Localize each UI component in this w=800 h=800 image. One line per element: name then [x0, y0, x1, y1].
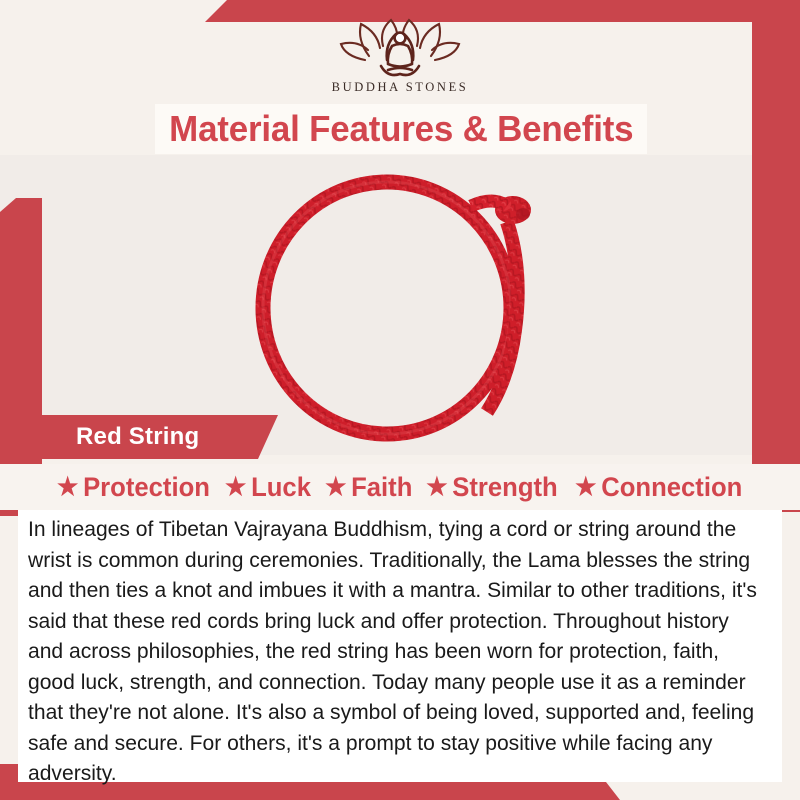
- red-string-ribbon: Red String: [28, 415, 278, 459]
- product-photo: [0, 155, 800, 455]
- benefit-label: Faith: [351, 472, 412, 503]
- product-feature-poster: BUDDHA STONES Material Features & Benefi…: [0, 0, 800, 800]
- star-icon: ★: [575, 475, 596, 500]
- brand-name: BUDDHA STONES: [332, 80, 469, 95]
- description-paragraph: In lineages of Tibetan Vajrayana Buddhis…: [28, 514, 759, 789]
- star-icon: ★: [427, 475, 448, 500]
- brand-logo: BUDDHA STONES: [0, 16, 800, 104]
- ribbon-label: Red String: [28, 423, 199, 451]
- benefit-label: Luck: [251, 472, 311, 503]
- star-icon: ★: [57, 475, 78, 500]
- page-title: Material Features & Benefits: [169, 108, 633, 150]
- title-banner: Material Features & Benefits: [155, 104, 647, 154]
- star-icon: ★: [325, 475, 346, 500]
- benefit-label: Strength: [453, 472, 558, 503]
- benefit-item: ★ Connection: [567, 472, 743, 503]
- benefit-label: Protection: [83, 472, 210, 503]
- lotus-meditation-figure-icon: [335, 16, 465, 78]
- benefit-item: ★ Luck: [217, 472, 311, 503]
- benefit-item: ★ Faith: [316, 472, 412, 503]
- benefit-label: Connection: [601, 472, 742, 503]
- benefit-item: ★ Protection: [57, 472, 210, 503]
- benefits-row: ★ Protection ★ Luck ★ Faith ★ Strength ★…: [0, 464, 800, 510]
- red-string-bracelet-illustration: [235, 160, 565, 450]
- description-panel: In lineages of Tibetan Vajrayana Buddhis…: [18, 510, 782, 782]
- star-icon: ★: [225, 475, 246, 500]
- benefit-item: ★ Strength: [418, 472, 558, 503]
